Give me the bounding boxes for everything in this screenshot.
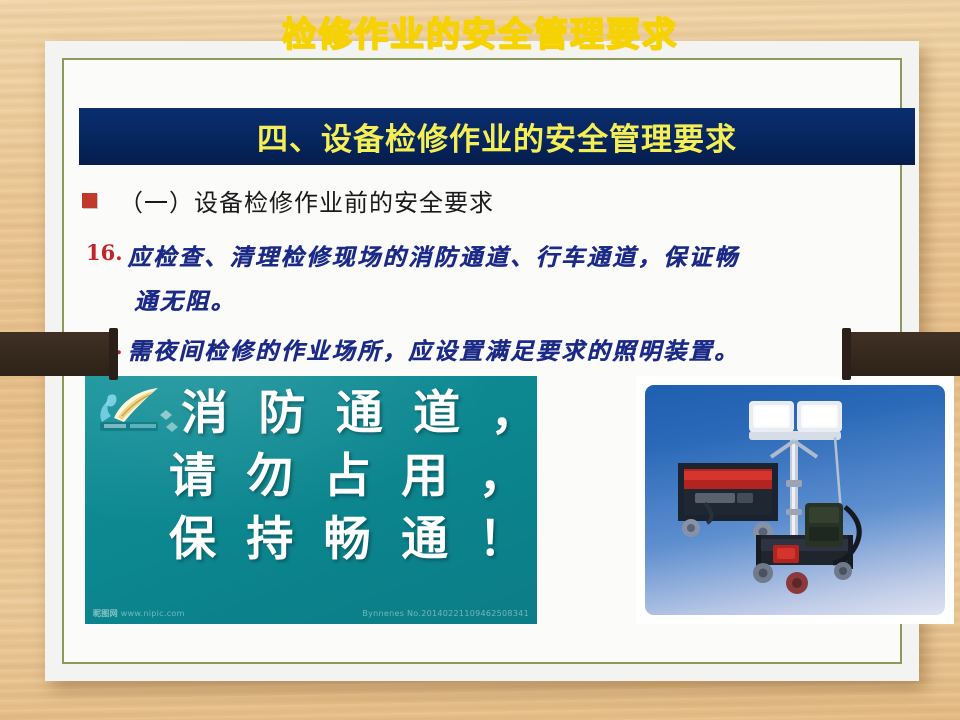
slide-card: 四、设备检修作业的安全管理要求 （一）设备检修作业前的安全要求 16. 应检查、…: [45, 41, 919, 681]
slide-title-banner: 四、设备检修作业的安全管理要求: [79, 108, 915, 165]
slide-title-text: 四、设备检修作业的安全管理要求: [257, 114, 737, 159]
sign-watermark-footer: 昵图网 www.nipic.com Bynnenes No.2014022110…: [85, 603, 537, 624]
list-item-continuation: 通无阻。: [134, 282, 236, 316]
decor-band-left: [0, 332, 118, 376]
section-bullet-label: （一）设备检修作业前的安全要求: [119, 183, 494, 218]
lighting-tower-photo: [645, 385, 945, 615]
decor-band-cap-left: [109, 328, 118, 380]
list-item-text: 需夜间检修的作业场所，应设置满足要求的照明装置。: [128, 332, 740, 366]
section-bullet-row: （一）设备检修作业前的安全要求: [82, 183, 494, 218]
watermark-right: Bynnenes No.20140221109462508341: [362, 609, 529, 618]
sign-line-2: 请 勿 占 用 ，: [167, 445, 531, 508]
overlap-heading: 检修作业的安全管理要求: [0, 18, 960, 52]
watermark-url: www.nipic.com: [121, 609, 185, 618]
watermark-brand: 昵图网: [93, 609, 118, 618]
list-item: 17. 需夜间检修的作业场所，应设置满足要求的照明装置。: [86, 332, 740, 366]
list-item-text: 应检查、清理检修现场的消防通道、行车通道，保证畅: [128, 238, 740, 272]
lighting-tower-illustration: [645, 385, 945, 615]
fire-lane-sign-image: 消 防 通 道 ， 请 勿 占 用 ， 保 持 畅 通 ！ 昵图网 www.ni…: [85, 376, 537, 624]
decor-band-cap-right: [842, 328, 851, 380]
sign-line-1: 消 防 通 道 ，: [167, 382, 531, 445]
lighting-tower-photo-frame: [636, 376, 954, 624]
decor-band-right: [842, 332, 960, 376]
sign-line-3: 保 持 畅 通 ！: [167, 508, 531, 571]
list-item-text-line2: 通无阻。: [134, 282, 236, 316]
slide-inner-frame: 四、设备检修作业的安全管理要求 （一）设备检修作业前的安全要求 16. 应检查、…: [62, 58, 902, 664]
images-row: 消 防 通 道 ， 请 勿 占 用 ， 保 持 畅 通 ！ 昵图网 www.ni…: [85, 376, 882, 636]
watermark-left: 昵图网 www.nipic.com: [93, 608, 185, 619]
list-item-number: 16.: [86, 238, 123, 265]
sign-text-block: 消 防 通 道 ， 请 勿 占 用 ， 保 持 畅 通 ！: [167, 382, 531, 571]
red-square-bullet-icon: [82, 193, 97, 208]
list-item: 16. 应检查、清理检修现场的消防通道、行车通道，保证畅: [86, 238, 740, 272]
